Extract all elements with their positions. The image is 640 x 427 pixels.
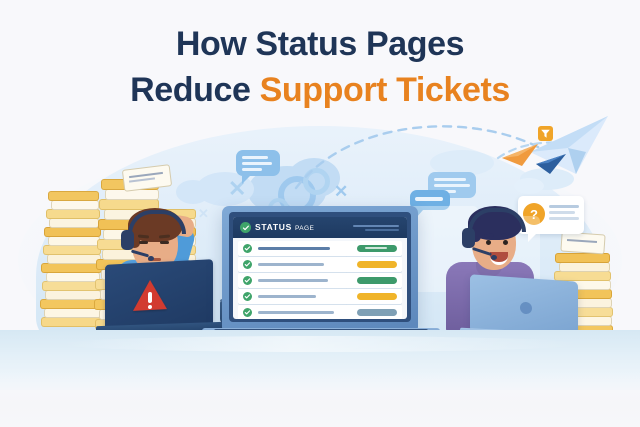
check-icon bbox=[243, 260, 252, 269]
headset-mic-tip bbox=[148, 256, 154, 261]
check-circle-icon bbox=[240, 222, 251, 233]
headline-line-2-accent: Support Tickets bbox=[260, 71, 510, 109]
bottom-fade bbox=[0, 372, 640, 427]
status-row[interactable] bbox=[238, 241, 402, 256]
status-page-screen[interactable]: STATUS PAGE bbox=[233, 217, 407, 319]
status-page-title-sub: PAGE bbox=[295, 225, 314, 232]
agent-eye bbox=[486, 240, 491, 245]
status-badge bbox=[357, 293, 397, 300]
status-page-title: STATUS PAGE bbox=[255, 222, 314, 234]
agent-eye bbox=[160, 241, 169, 244]
status-row-label bbox=[258, 247, 330, 250]
check-icon bbox=[243, 244, 252, 253]
status-row[interactable] bbox=[238, 257, 402, 272]
headset-ear-cup bbox=[462, 228, 475, 248]
headset-mic-tip bbox=[491, 255, 497, 260]
paper-plane-dark-icon bbox=[534, 152, 568, 176]
status-page-row-list bbox=[238, 241, 402, 319]
status-page-header-line bbox=[353, 225, 399, 227]
desk-reflection bbox=[60, 336, 580, 352]
check-icon bbox=[243, 276, 252, 285]
status-row[interactable] bbox=[238, 305, 402, 319]
status-row-label bbox=[258, 263, 324, 266]
headline-line-2-plain: Reduce bbox=[130, 71, 259, 109]
status-row-label bbox=[258, 279, 328, 282]
check-icon bbox=[243, 292, 252, 301]
filter-badge-icon bbox=[538, 126, 553, 141]
status-badge bbox=[357, 309, 397, 316]
chat-bubble-icon bbox=[236, 150, 280, 176]
status-row[interactable] bbox=[238, 273, 402, 288]
status-page-title-main: STATUS bbox=[255, 222, 292, 232]
check-icon bbox=[243, 308, 252, 317]
status-row[interactable] bbox=[238, 289, 402, 304]
status-page-header-line-2 bbox=[365, 229, 399, 231]
status-row-label bbox=[258, 295, 316, 298]
agent-eye bbox=[139, 241, 148, 244]
right-laptop-logo bbox=[520, 302, 532, 315]
headline-line-1: How Status Pages bbox=[0, 22, 640, 68]
headset-ear-cup bbox=[121, 230, 134, 250]
status-badge bbox=[357, 261, 397, 268]
headline-line-2: Reduce Support Tickets bbox=[0, 68, 640, 114]
status-badge bbox=[357, 277, 397, 284]
status-row-label bbox=[258, 311, 334, 314]
illustration-canvas: ✕ ✕ ✕ bbox=[0, 0, 640, 427]
agent-eye bbox=[503, 240, 508, 245]
status-badge bbox=[357, 245, 397, 252]
chat-bubble-tail bbox=[242, 176, 250, 184]
headline: How Status Pages Reduce Support Tickets bbox=[0, 22, 640, 113]
warning-exclamation-mark bbox=[148, 292, 152, 303]
ticket-note bbox=[561, 233, 604, 254]
